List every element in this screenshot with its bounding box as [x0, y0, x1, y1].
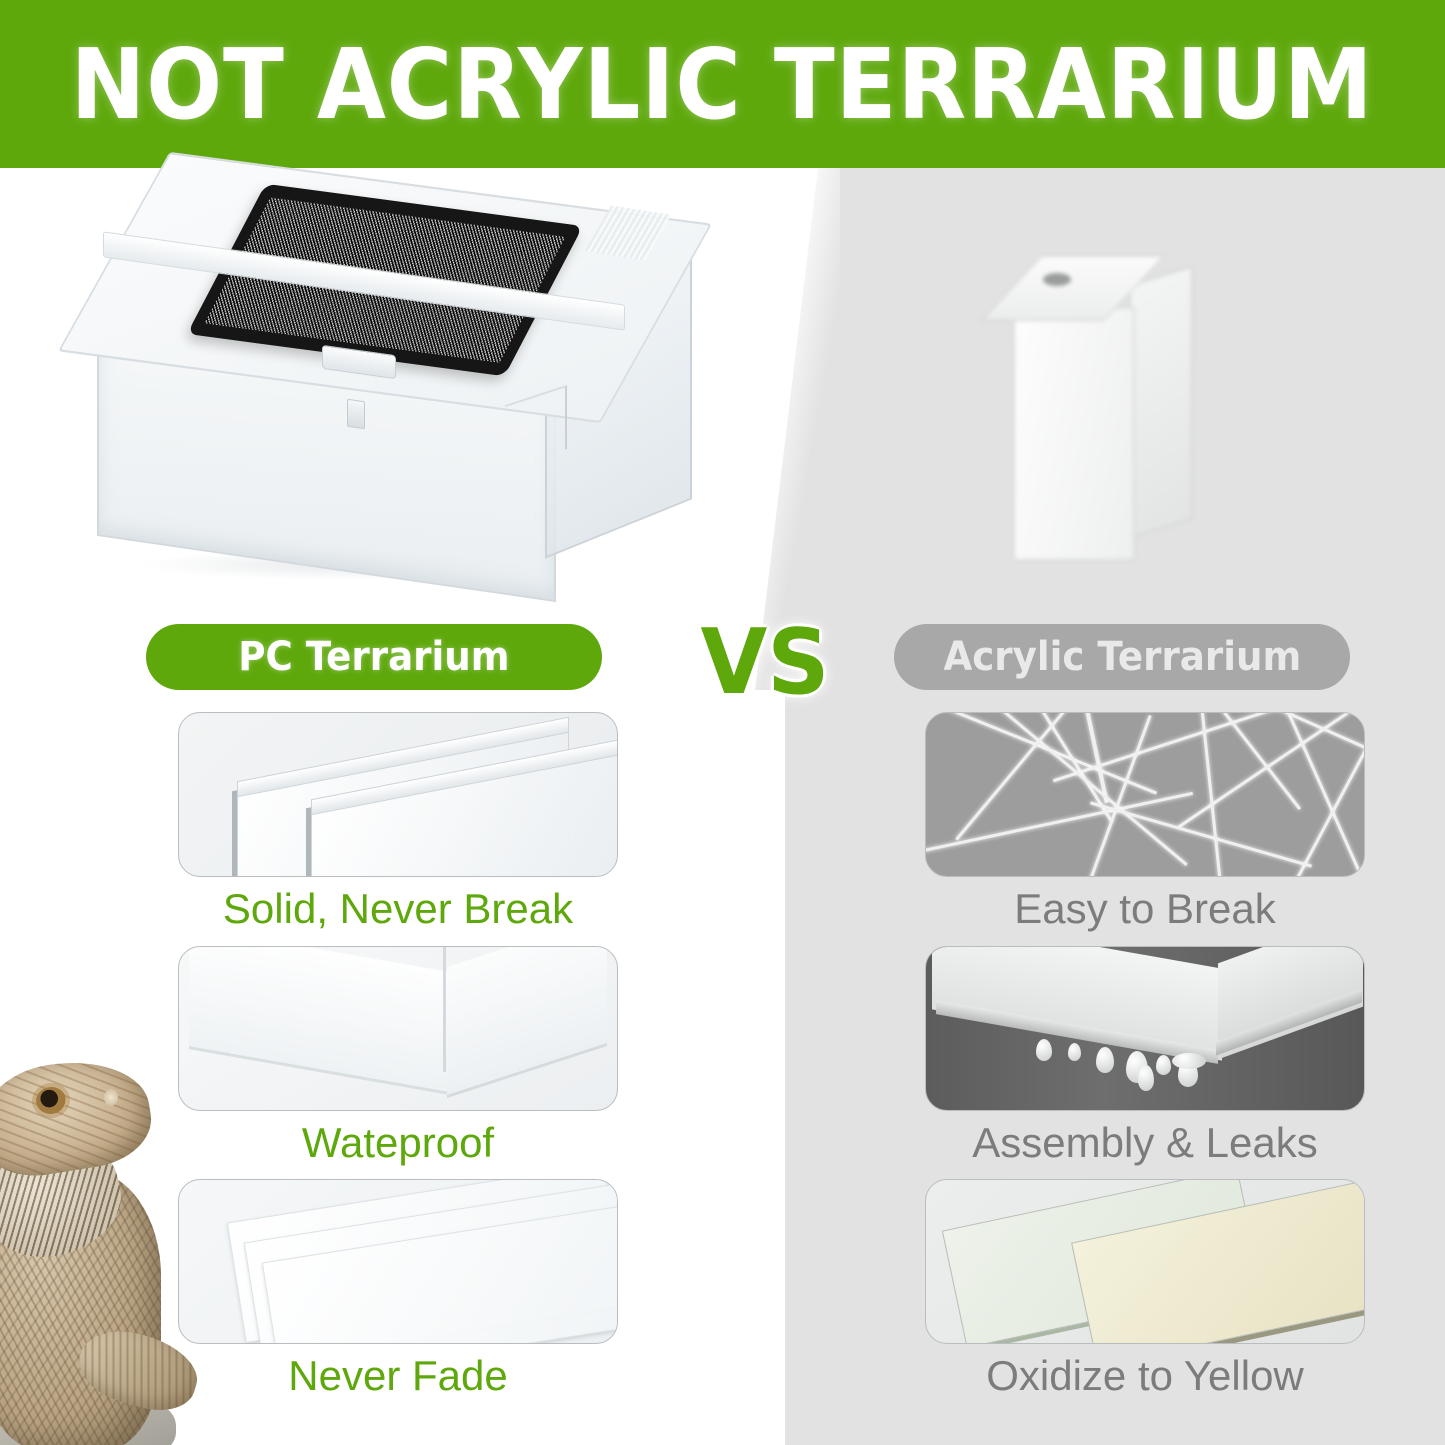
feature-label-never-fade: Never Fade — [178, 1344, 618, 1405]
tank-corner-seam — [443, 947, 446, 1072]
acrylic-terrarium-pill: Acrylic Terrarium — [894, 624, 1350, 690]
pc-terrarium-pill-label: PC Terrarium — [238, 634, 509, 680]
clear-sheets-thumbnail — [178, 1179, 618, 1344]
feature-item: Easy to Break — [925, 712, 1365, 938]
bearded-dragon-image — [0, 1045, 201, 1445]
yellowed-sheets-thumbnail — [925, 1179, 1365, 1344]
acrylic-top-hole-icon — [1043, 273, 1071, 286]
feature-item: Solid, Never Break — [178, 712, 618, 938]
dragon-head — [0, 1050, 157, 1183]
feature-label-waterproof: Wateproof — [178, 1111, 618, 1172]
acrylic-side-face — [1129, 265, 1193, 539]
acrylic-feature-column: Easy to Break Assembly & Le — [925, 712, 1365, 1413]
water-drop — [1068, 1043, 1081, 1061]
dragon-head-scales — [0, 1050, 157, 1183]
crack-line — [1201, 712, 1222, 877]
tank-wall-left — [189, 946, 449, 1095]
page-title: NOT ACRYLIC TERRARIUM — [71, 36, 1374, 133]
pc-feature-column: Solid, Never Break Wateproof Never Fade — [178, 712, 618, 1413]
feature-item: Assembly & Leaks — [925, 946, 1365, 1172]
feature-label-solid-never-break: Solid, Never Break — [178, 877, 618, 938]
vs-label: VS — [693, 610, 837, 715]
tank-wall-right — [447, 946, 607, 1098]
feature-label-easy-to-break: Easy to Break — [925, 877, 1365, 938]
pc-terrarium-hero-image — [75, 150, 715, 610]
dragon-ear — [104, 1089, 118, 1106]
crack-line — [925, 712, 1157, 795]
feature-item: Oxidize to Yellow — [925, 1179, 1365, 1405]
leaking-seam-thumbnail — [925, 946, 1365, 1111]
pc-sheets-thumbnail — [178, 712, 618, 877]
header-banner: NOT ACRYLIC TERRARIUM — [0, 0, 1445, 168]
feature-item: Never Fade — [178, 1179, 618, 1405]
feature-item: Wateproof — [178, 946, 618, 1172]
water-drop — [1138, 1065, 1154, 1091]
lock-icon — [347, 399, 365, 430]
infographic-canvas: NOT ACRYLIC TERRARIUM PC — [0, 0, 1445, 1445]
crack-line — [1270, 712, 1362, 876]
acrylic-terrarium-pill-label: Acrylic Terrarium — [943, 634, 1301, 680]
water-drop — [1096, 1047, 1114, 1073]
pc-terrarium-pill: PC Terrarium — [146, 624, 602, 690]
water-drop — [1036, 1039, 1052, 1061]
feature-label-oxidize-to-yellow: Oxidize to Yellow — [925, 1344, 1365, 1405]
water-drop — [1156, 1055, 1171, 1075]
feature-comparison-grid: Solid, Never Break Wateproof Never Fade — [0, 712, 1445, 1445]
comparison-header-row: PC Terrarium VS Acrylic Terrarium — [0, 620, 1445, 700]
acrylic-box-icon — [985, 245, 1205, 575]
acrylic-front-face — [1013, 307, 1135, 561]
cracked-glass-thumbnail — [925, 712, 1365, 877]
pc-terrarium-box-icon — [75, 150, 715, 610]
seamless-corner-thumbnail — [178, 946, 618, 1111]
crack-line — [925, 792, 1193, 857]
feature-label-assembly-leaks: Assembly & Leaks — [925, 1111, 1365, 1172]
acrylic-terrarium-hero-image — [985, 245, 1205, 575]
water-drop — [1172, 1053, 1206, 1069]
